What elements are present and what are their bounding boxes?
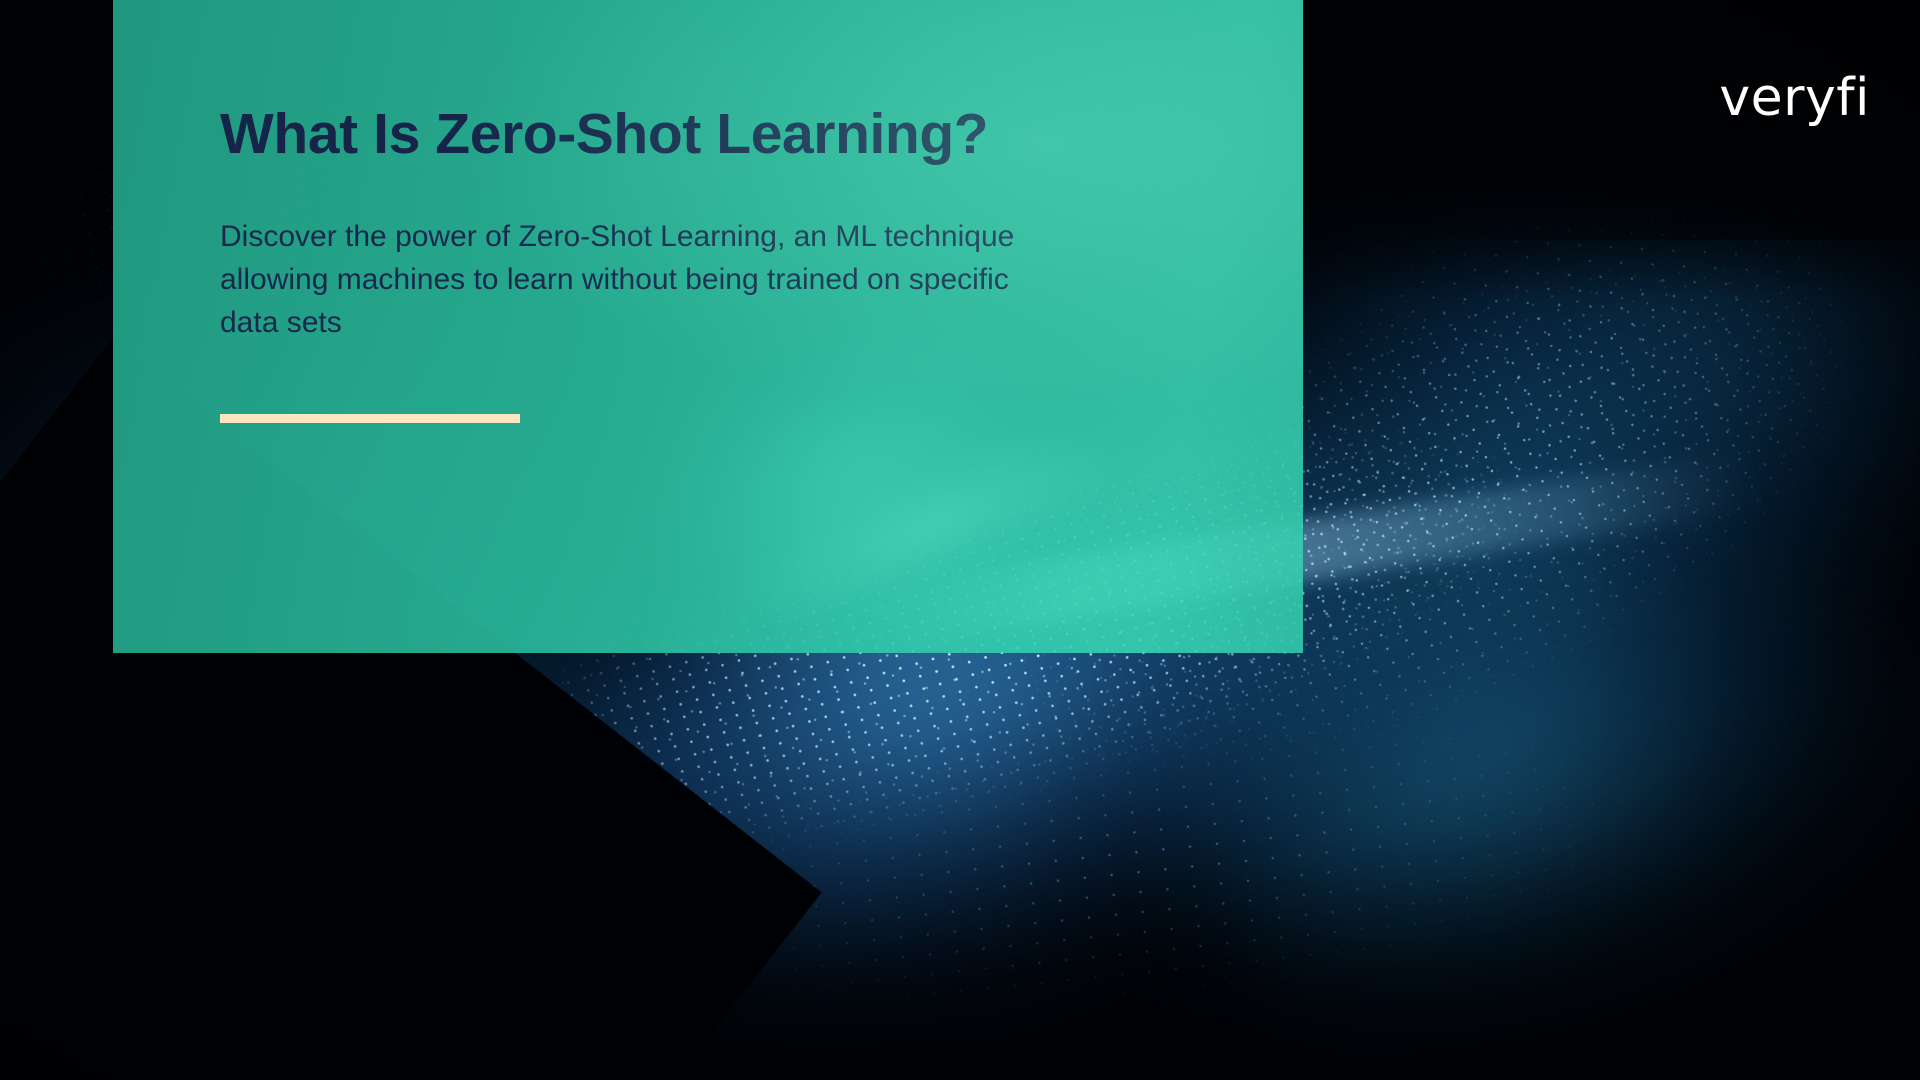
page-subtitle: Discover the power of Zero-Shot Learning… [220, 216, 1030, 344]
subtitle-line: Discover the power of Zero-Shot Learning… [220, 216, 1030, 259]
hero-banner: veryfi What Is Zero-Shot Learning? Disco… [0, 0, 1920, 1080]
veryfi-logo[interactable]: veryfi [1719, 72, 1870, 124]
page-title: What Is Zero-Shot Learning? [220, 104, 1243, 164]
content-panel: What Is Zero-Shot Learning? Discover the… [113, 0, 1303, 653]
accent-divider [220, 414, 520, 423]
subtitle-line: data sets [220, 302, 1030, 345]
content-panel-inner: What Is Zero-Shot Learning? Discover the… [220, 104, 1243, 423]
subtitle-line: allowing machines to learn without being… [220, 259, 1030, 302]
